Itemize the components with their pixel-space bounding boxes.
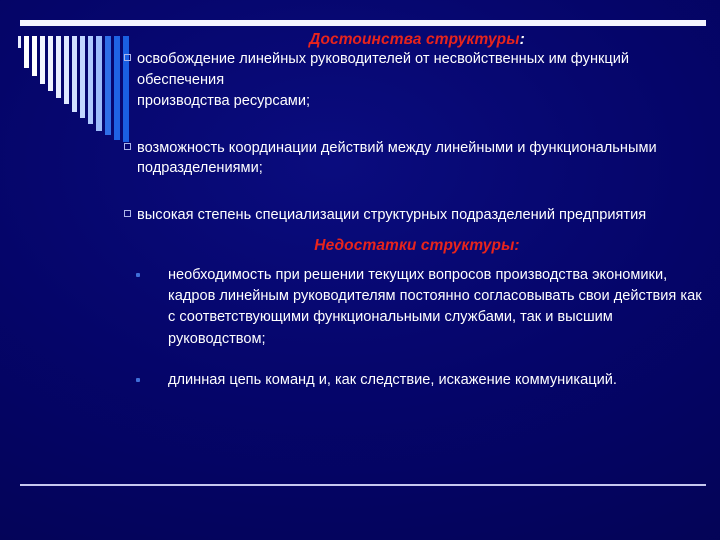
spacer xyxy=(124,112,710,138)
decoration-bar-11 xyxy=(96,36,102,131)
disadvantage-item-2: длинная цепь команд и, как следствие, ис… xyxy=(124,370,710,391)
advantages-heading-colon: : xyxy=(520,31,525,48)
spacer xyxy=(124,179,710,205)
advantage-item-3: высокая степень специализации структурны… xyxy=(124,205,710,226)
advantages-heading: Достоинства структуры: xyxy=(124,30,710,49)
decoration-bar-2 xyxy=(24,36,29,68)
disadvantages-heading: Недостатки структуры: xyxy=(124,236,710,255)
square-bullet-icon xyxy=(124,210,131,217)
decoration-bar-8 xyxy=(72,36,77,112)
decoration-bar-3 xyxy=(32,36,37,76)
advantage-item-2: возможность координации действий между л… xyxy=(124,138,710,179)
slide-content: Достоинства структуры: освобождение лине… xyxy=(124,30,710,391)
advantage-item-3-text: высокая степень специализации структурны… xyxy=(137,207,646,223)
decoration-bar-13 xyxy=(114,36,120,140)
advantage-item-1-continuation: производства ресурсами; xyxy=(124,91,710,112)
decoration-bar-12 xyxy=(105,36,111,135)
decoration-bar-9 xyxy=(80,36,85,118)
dot-bullet-icon xyxy=(136,378,140,382)
decoration-bar-10 xyxy=(88,36,93,124)
advantage-item-1: освобождение линейных руководителей от н… xyxy=(124,49,710,90)
presentation-slide: Достоинства структуры: освобождение лине… xyxy=(0,0,720,540)
spacer xyxy=(124,350,710,370)
disadvantage-item-1: необходимость при решении текущих вопрос… xyxy=(124,265,710,350)
advantage-item-1-continuation-text: производства ресурсами; xyxy=(137,93,310,109)
square-bullet-icon xyxy=(124,54,131,61)
disadvantage-item-2-text: длинная цепь команд и, как следствие, ис… xyxy=(168,372,617,388)
advantages-heading-text: Достоинства структуры xyxy=(309,31,519,48)
decoration-bar-7 xyxy=(64,36,69,104)
decoration-bar-5 xyxy=(48,36,53,91)
disadvantage-item-1-text: необходимость при решении текущих вопрос… xyxy=(168,267,702,346)
decoration-bar-6 xyxy=(56,36,61,98)
dot-bullet-icon xyxy=(136,273,140,277)
spacer xyxy=(124,255,710,265)
decoration-bar-1 xyxy=(18,36,21,48)
spacer xyxy=(124,226,710,236)
advantage-item-2-text: возможность координации действий между л… xyxy=(137,140,657,177)
decoration-bar-4 xyxy=(40,36,45,84)
advantage-item-1-text: освобождение линейных руководителей от н… xyxy=(137,51,629,88)
top-divider-rule xyxy=(20,20,706,26)
descending-bars-decoration xyxy=(18,36,130,148)
bottom-divider-rule xyxy=(20,484,706,486)
square-bullet-icon xyxy=(124,143,131,150)
